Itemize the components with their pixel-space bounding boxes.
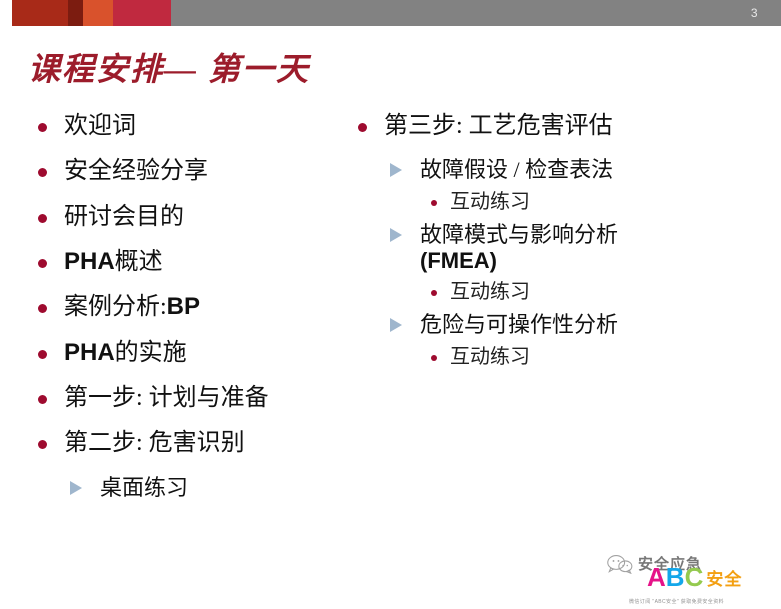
sub-sub-list-item: 互动练习	[424, 345, 770, 369]
topbar-segment-gray: 3	[171, 0, 781, 26]
watermark-tagline: 微信订阅 "ABC安全" 获取免费安全资料	[629, 598, 724, 605]
bullet-dot-icon	[38, 440, 47, 449]
sub-sub-list-item-label: 互动练习	[450, 281, 530, 303]
sub-list-item: 桌面练习	[60, 475, 350, 501]
sub-list-item: 故障模式与影响分析 (FMEA)	[380, 222, 770, 275]
wechat-icon	[607, 554, 633, 574]
list-item-label: 第二步: 危害识别	[64, 430, 245, 456]
small-bullet-dot-icon	[431, 355, 437, 361]
logo-safe-label: 安全	[706, 565, 742, 590]
list-item-label: 案例分析:	[64, 294, 167, 320]
topbar-segment-orange	[83, 0, 113, 26]
sub-sub-list-item: 互动练习	[424, 190, 770, 214]
sub-sub-list-item-label: 互动练习	[450, 191, 530, 213]
bullet-dot-icon	[38, 214, 47, 223]
arrow-bullet-icon	[70, 481, 82, 495]
right-column: 第三步: 工艺危害评估 故障假设 / 检查表法 互动练习 故障模式与影响分析 (…	[350, 112, 770, 377]
list-item-label-prefix: PHA	[64, 248, 115, 275]
sub-list-item-label: 危险与可操作性分析	[420, 312, 618, 337]
logo-letter-a: A	[647, 564, 666, 590]
left-column: 欢迎词 安全经验分享 研讨会目的 PHA概述 案例分析:BP PHA的实施 第一…	[30, 112, 350, 507]
sub-sub-list-item: 互动练习	[424, 280, 770, 304]
small-bullet-dot-icon	[431, 290, 437, 296]
list-item: 第二步: 危害识别	[30, 429, 350, 457]
logo-letter-b: B	[666, 564, 685, 590]
bullet-dot-icon	[38, 350, 47, 359]
list-item-label: 第一步: 计划与准备	[64, 385, 269, 411]
bullet-dot-icon	[38, 259, 47, 268]
bullet-dot-icon	[38, 168, 47, 177]
list-item-label-suffix: BP	[167, 293, 200, 320]
sub-sub-list-item-label: 互动练习	[450, 346, 530, 368]
list-item-label-prefix: PHA	[64, 339, 115, 366]
arrow-bullet-icon	[390, 228, 402, 242]
slide-content: 欢迎词 安全经验分享 研讨会目的 PHA概述 案例分析:BP PHA的实施 第一…	[0, 112, 781, 532]
small-bullet-dot-icon	[431, 200, 437, 206]
bullet-dot-icon	[38, 395, 47, 404]
list-item: 安全经验分享	[30, 157, 350, 185]
topbar-segment-crimson	[113, 0, 171, 26]
sub-list-item: 危险与可操作性分析	[380, 312, 770, 338]
arrow-bullet-icon	[390, 318, 402, 332]
topbar-segment-maroon	[68, 0, 83, 26]
top-decorative-bar: 3	[0, 0, 781, 26]
list-item-label: 第三步: 工艺危害评估	[384, 113, 613, 139]
list-item: PHA概述	[30, 248, 350, 276]
list-item-label: 的实施	[115, 340, 187, 366]
sub-list-item-label: 故障假设 / 检查表法	[420, 157, 613, 182]
sub-list-item-label: 桌面练习	[100, 475, 188, 500]
list-item-label: 安全经验分享	[64, 158, 208, 184]
bullet-dot-icon	[38, 304, 47, 313]
sub-list-item: 故障假设 / 检查表法	[380, 157, 770, 183]
watermark: 安全应急 A B C 安全 微信订阅 "ABC安全" 获取免费安全资料	[601, 547, 773, 607]
sub-list-item-label-acronym: (FMEA)	[420, 248, 497, 273]
list-item: 研讨会目的	[30, 203, 350, 231]
arrow-bullet-icon	[390, 163, 402, 177]
sub-list-item-label: 故障模式与影响分析	[420, 222, 618, 247]
list-item: 第一步: 计划与准备	[30, 384, 350, 412]
page-number: 3	[751, 7, 758, 19]
watermark-logo: A B C 安全	[647, 564, 742, 590]
topbar-left-padding	[0, 0, 12, 26]
logo-letter-c: C	[685, 564, 704, 590]
list-item: 欢迎词	[30, 112, 350, 140]
list-item: 案例分析:BP	[30, 293, 350, 321]
topbar-segment-darkred	[12, 0, 68, 26]
list-item-label: 概述	[115, 249, 163, 275]
list-item-label: 研讨会目的	[64, 204, 184, 230]
bullet-dot-icon	[358, 123, 367, 132]
list-item-label: 欢迎词	[64, 113, 136, 139]
list-item: 第三步: 工艺危害评估	[350, 112, 770, 140]
page-title: 课程安排— 第一天	[28, 44, 310, 90]
list-item: PHA的实施	[30, 339, 350, 367]
bullet-dot-icon	[38, 123, 47, 132]
